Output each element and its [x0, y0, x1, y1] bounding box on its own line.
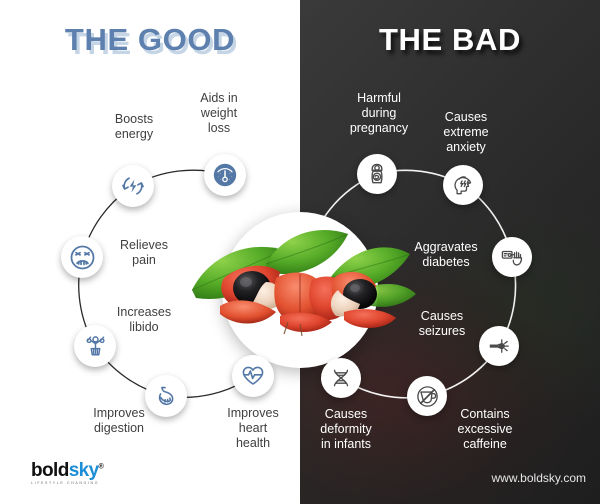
center-disc	[222, 212, 378, 368]
node-causes-seizures[interactable]	[479, 326, 519, 366]
label-improves-digestion: Improves digestion	[78, 406, 160, 436]
logo-tagline: LIFESTYLE CHANGING	[31, 482, 103, 486]
caffeine-free-icon	[415, 384, 440, 409]
label-boosts-energy: Boosts energy	[99, 112, 169, 142]
label-aids-weight-loss: Aids in weight loss	[186, 91, 252, 135]
strong-person-icon	[83, 334, 108, 359]
anxious-head-icon	[451, 173, 475, 197]
node-boosts-energy[interactable]	[112, 165, 154, 207]
node-aggravates-diabetes[interactable]	[492, 237, 532, 277]
infographic-root: THE GOOD THE BAD	[0, 0, 600, 504]
logo-text-sky: sky	[69, 460, 99, 481]
grimace-face-icon	[69, 244, 96, 271]
boldsky-logo[interactable]: boldsky® LIFESTYLE CHANGING	[31, 461, 103, 486]
node-causes-deformity-in-infants[interactable]	[321, 358, 361, 398]
pregnant-woman-icon	[365, 162, 389, 186]
node-harmful-during-pregnancy[interactable]	[357, 154, 397, 194]
label-causes-deformity-in-infants: Causes deformity in infants	[304, 407, 388, 451]
logo-text-bold: bold	[31, 460, 69, 481]
label-relieves-pain: Relieves pain	[107, 238, 181, 268]
heartbeat-icon	[240, 363, 266, 389]
label-improves-heart-health: Improves heart health	[217, 406, 289, 450]
node-contains-excessive-caffeine[interactable]	[407, 376, 447, 416]
weight-scale-icon	[212, 162, 238, 188]
dna-helix-icon	[329, 366, 353, 390]
label-aggravates-diabetes: Aggravates diabetes	[401, 240, 491, 270]
label-causes-extreme-anxiety: Causes extreme anxiety	[428, 110, 504, 154]
label-causes-seizures: Causes seizures	[404, 309, 480, 339]
energy-refresh-icon	[120, 173, 146, 199]
node-improves-heart-health[interactable]	[232, 355, 274, 397]
logo-registered-mark: ®	[99, 464, 104, 471]
label-contains-excessive-caffeine: Contains excessive caffeine	[443, 407, 527, 451]
label-harmful-during-pregnancy: Harmful during pregnancy	[337, 91, 421, 135]
site-url[interactable]: www.boldsky.com	[492, 471, 586, 485]
glucose-meter-icon	[500, 245, 524, 269]
node-causes-extreme-anxiety[interactable]	[443, 165, 483, 205]
nerve-seizure-icon	[487, 334, 511, 358]
label-increases-libido: Increases libido	[102, 305, 186, 335]
node-aids-weight-loss[interactable]	[204, 154, 246, 196]
node-relieves-pain[interactable]	[61, 236, 103, 278]
